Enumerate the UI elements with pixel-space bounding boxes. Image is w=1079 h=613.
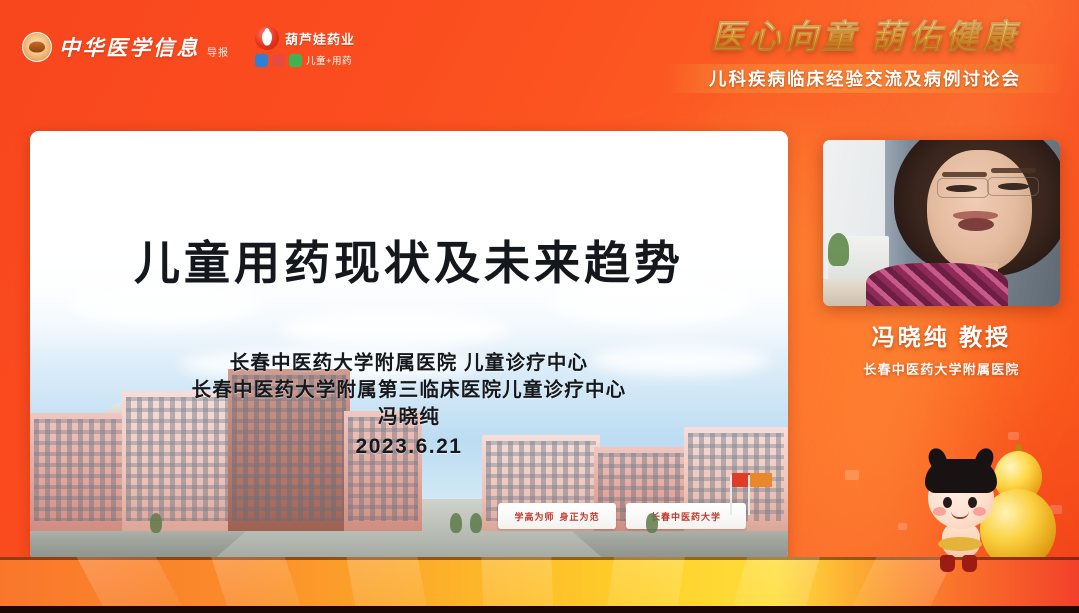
sparkle-decoration xyxy=(1008,432,1019,440)
slide-text-layer: 儿童用药现状及未来趋势 长春中医药大学附属医院 儿童诊疗中心 长春中医药大学附属… xyxy=(30,131,788,561)
mascot-cheek xyxy=(933,507,946,516)
burst-ray xyxy=(64,557,206,613)
sponsor-wordmark: 葫芦娃药业 xyxy=(285,29,355,48)
mascot-eye xyxy=(968,497,977,508)
event-title: 医心向童 葫佑健康 xyxy=(665,10,1065,58)
mascot-cheek xyxy=(973,507,986,516)
logo-sponsor-huluwa: 葫芦娃药业 儿童+用药 xyxy=(255,26,355,67)
sponsor-tagline: 儿童+用药 xyxy=(306,53,352,67)
speaker-eyebrow xyxy=(991,168,1036,173)
slide-title: 儿童用药现状及未来趋势 xyxy=(30,227,788,293)
logo-group: 中华医学信息 导报 葫芦娃药业 儿童+用药 xyxy=(22,26,355,67)
burst-ray xyxy=(202,557,321,613)
webcam-plant xyxy=(828,233,849,266)
burst-ray xyxy=(714,557,828,613)
event-branding: 医心向童 葫佑健康 儿科疾病临床经验交流及病例讨论会 xyxy=(665,10,1065,93)
event-subtitle-band: 儿科疾病临床经验交流及病例讨论会 xyxy=(665,64,1065,93)
speaker-caption: 冯晓纯 教授 长春中医药大学附属医院 xyxy=(823,318,1060,378)
speaker-webcam-video[interactable] xyxy=(823,140,1060,306)
speaker-organization: 长春中医药大学附属医院 xyxy=(823,359,1060,378)
sponsor-dot-icon xyxy=(272,54,285,67)
cma-wordmark: 中华医学信息 xyxy=(59,32,200,62)
speaker-shirt xyxy=(866,263,1008,306)
slide-affiliation-line-1: 长春中医药大学附属医院 儿童诊疗中心 xyxy=(30,350,788,377)
burst-ray xyxy=(597,557,690,613)
mascot-leaf-skirt xyxy=(938,537,982,551)
slide-subtitle-group: 长春中医药大学附属医院 儿童诊疗中心 长春中医药大学附属第三临床医院儿童诊疗中心… xyxy=(30,350,788,461)
gourd-doll-mark-icon xyxy=(255,26,279,50)
mascot-bangs xyxy=(940,481,980,493)
speaker-eyebrow xyxy=(942,172,987,177)
burst-ray xyxy=(480,557,556,613)
presentation-slide[interactable]: 学高为师 身正为范 长春中医药大学 儿童用药现状及未来趋势 长春中医药大学附属医… xyxy=(30,131,788,561)
mascot-eye xyxy=(943,497,952,508)
cma-wordmark-suffix: 导报 xyxy=(207,44,229,62)
speaker-eye xyxy=(946,185,977,192)
sparkle-decoration xyxy=(898,523,907,530)
slide-affiliation-line-2: 长春中医药大学附属第三临床医院儿童诊疗中心 xyxy=(30,377,788,404)
sponsor-dot-icon xyxy=(289,54,302,67)
seal-emblem-icon xyxy=(22,32,52,62)
slide-presenter-name: 冯晓纯 xyxy=(30,404,788,431)
frame-bottom-border xyxy=(0,606,1079,613)
slide-date: 2023.6.21 xyxy=(30,433,788,462)
sparkle-decoration xyxy=(845,470,859,480)
event-subtitle: 儿科疾病临床经验交流及病例讨论会 xyxy=(709,66,1021,91)
logo-chinese-medical-association: 中华医学信息 导报 xyxy=(22,32,229,62)
sponsor-dot-icon xyxy=(255,54,268,67)
header-bar: 中华医学信息 导报 葫芦娃药业 儿童+用药 医心向童 葫佑健康 儿科疾病 xyxy=(0,0,1079,112)
speaker-mouth xyxy=(958,218,994,231)
mascot-boot xyxy=(940,555,955,572)
speaker-name: 冯晓纯 教授 xyxy=(823,318,1060,352)
burst-ray xyxy=(341,557,439,613)
bottom-light-burst xyxy=(0,557,1079,613)
broadcast-stage: 中华医学信息 导报 葫芦娃药业 儿童+用药 医心向童 葫佑健康 儿科疾病 xyxy=(0,0,1079,613)
mascot-boot xyxy=(962,555,977,572)
